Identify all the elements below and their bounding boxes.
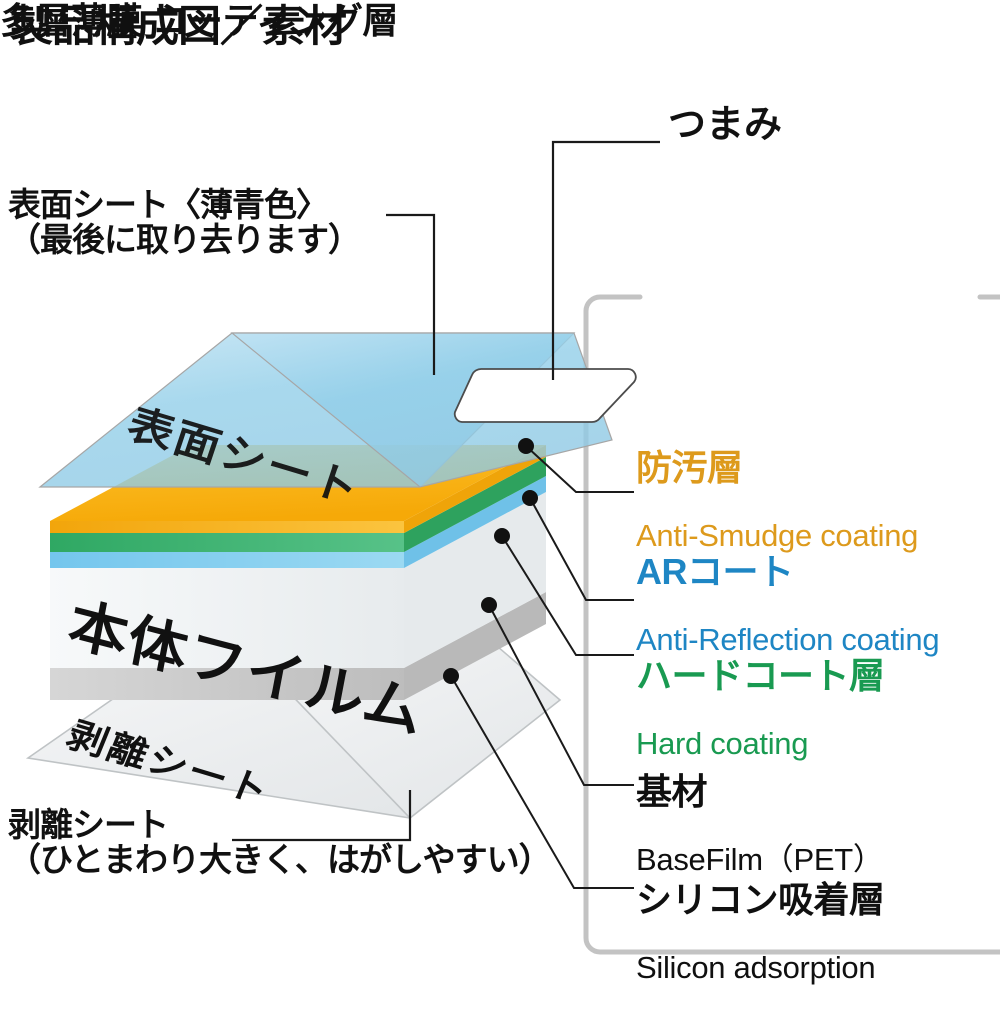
callout-surface-sheet-label: 表面シート〈薄青色〉 （最後に取り去ります） — [8, 188, 360, 258]
layer-label-silicon-en: Silicon adsorption — [636, 952, 885, 983]
layer-label-silicon-jp: シリコン吸着層 — [636, 882, 885, 918]
callout-tab-label: つまみ — [668, 105, 782, 145]
callout-release-sheet-label: 剥離シート （ひとまわり大きく、はがしやすい） — [8, 808, 551, 878]
anti-smudge-front — [50, 521, 404, 533]
tab-pull-shape — [455, 369, 636, 422]
product-structure-diagram: 製品構成図／素材 — [0, 0, 1000, 1000]
layer-label-hard-coating-jp: ハードコート層 — [636, 658, 885, 694]
hard-coating-front — [50, 533, 404, 552]
layer-label-silicon: シリコン吸着層 Silicon adsorption — [636, 850, 885, 1015]
layer-label-base-film-jp: 基材 — [636, 774, 884, 810]
layer-label-anti-reflection-jp: ARコート — [636, 554, 939, 590]
layer-label-anti-smudge-jp: 防汚層 — [636, 450, 918, 486]
ar-layer-front — [50, 552, 404, 568]
